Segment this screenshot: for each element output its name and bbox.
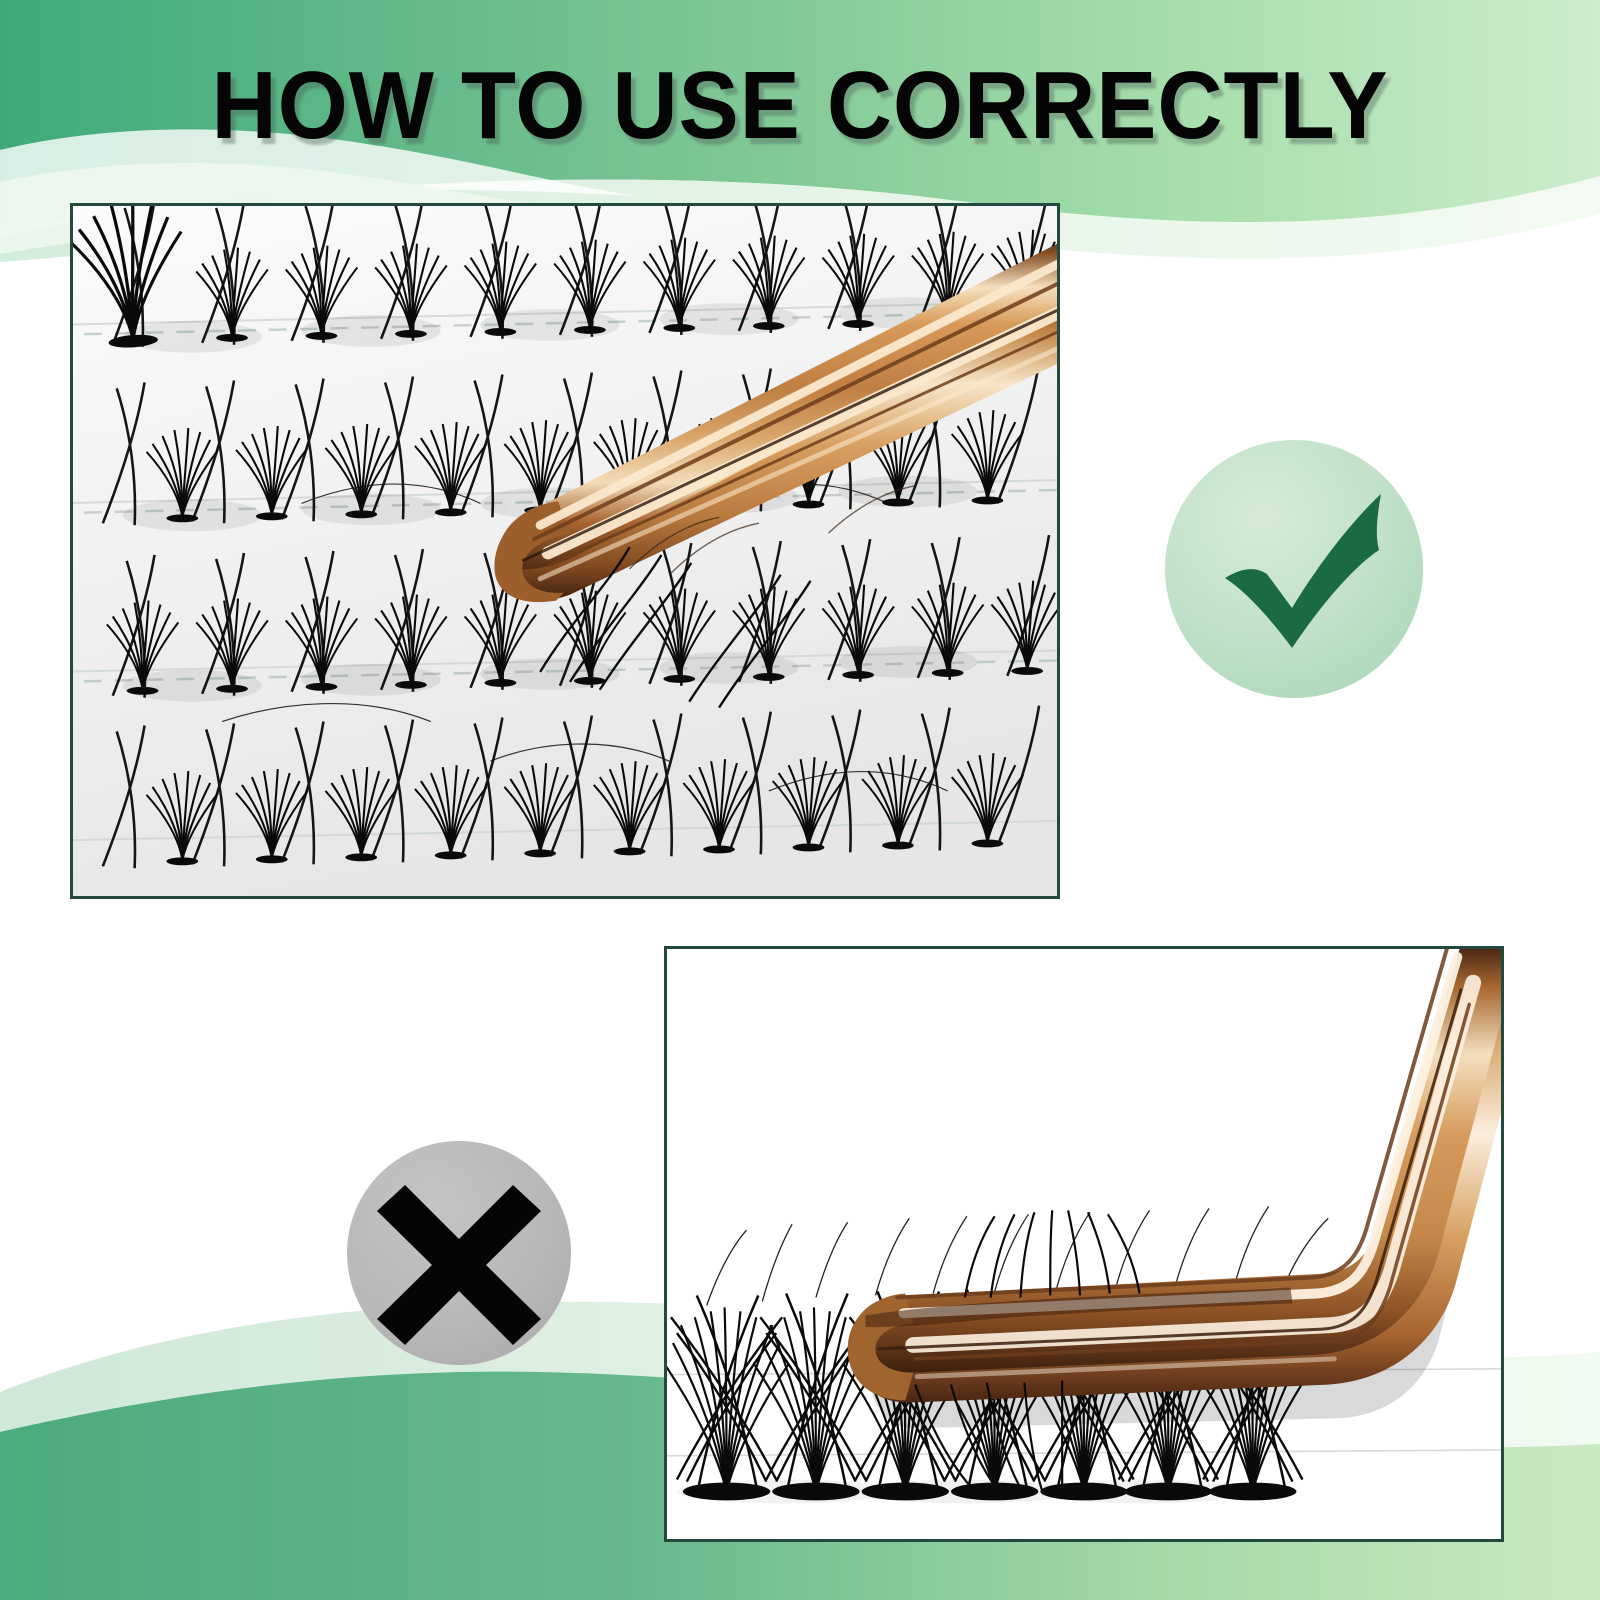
page-title: HOW TO USE CORRECTLY <box>48 58 1552 154</box>
infographic-canvas: HOW TO USE CORRECTLY <box>0 0 1600 1600</box>
photo-correct-usage <box>70 203 1060 899</box>
badge-correct <box>1163 438 1425 700</box>
badge-incorrect <box>345 1139 573 1367</box>
photo-incorrect-usage <box>664 946 1504 1542</box>
